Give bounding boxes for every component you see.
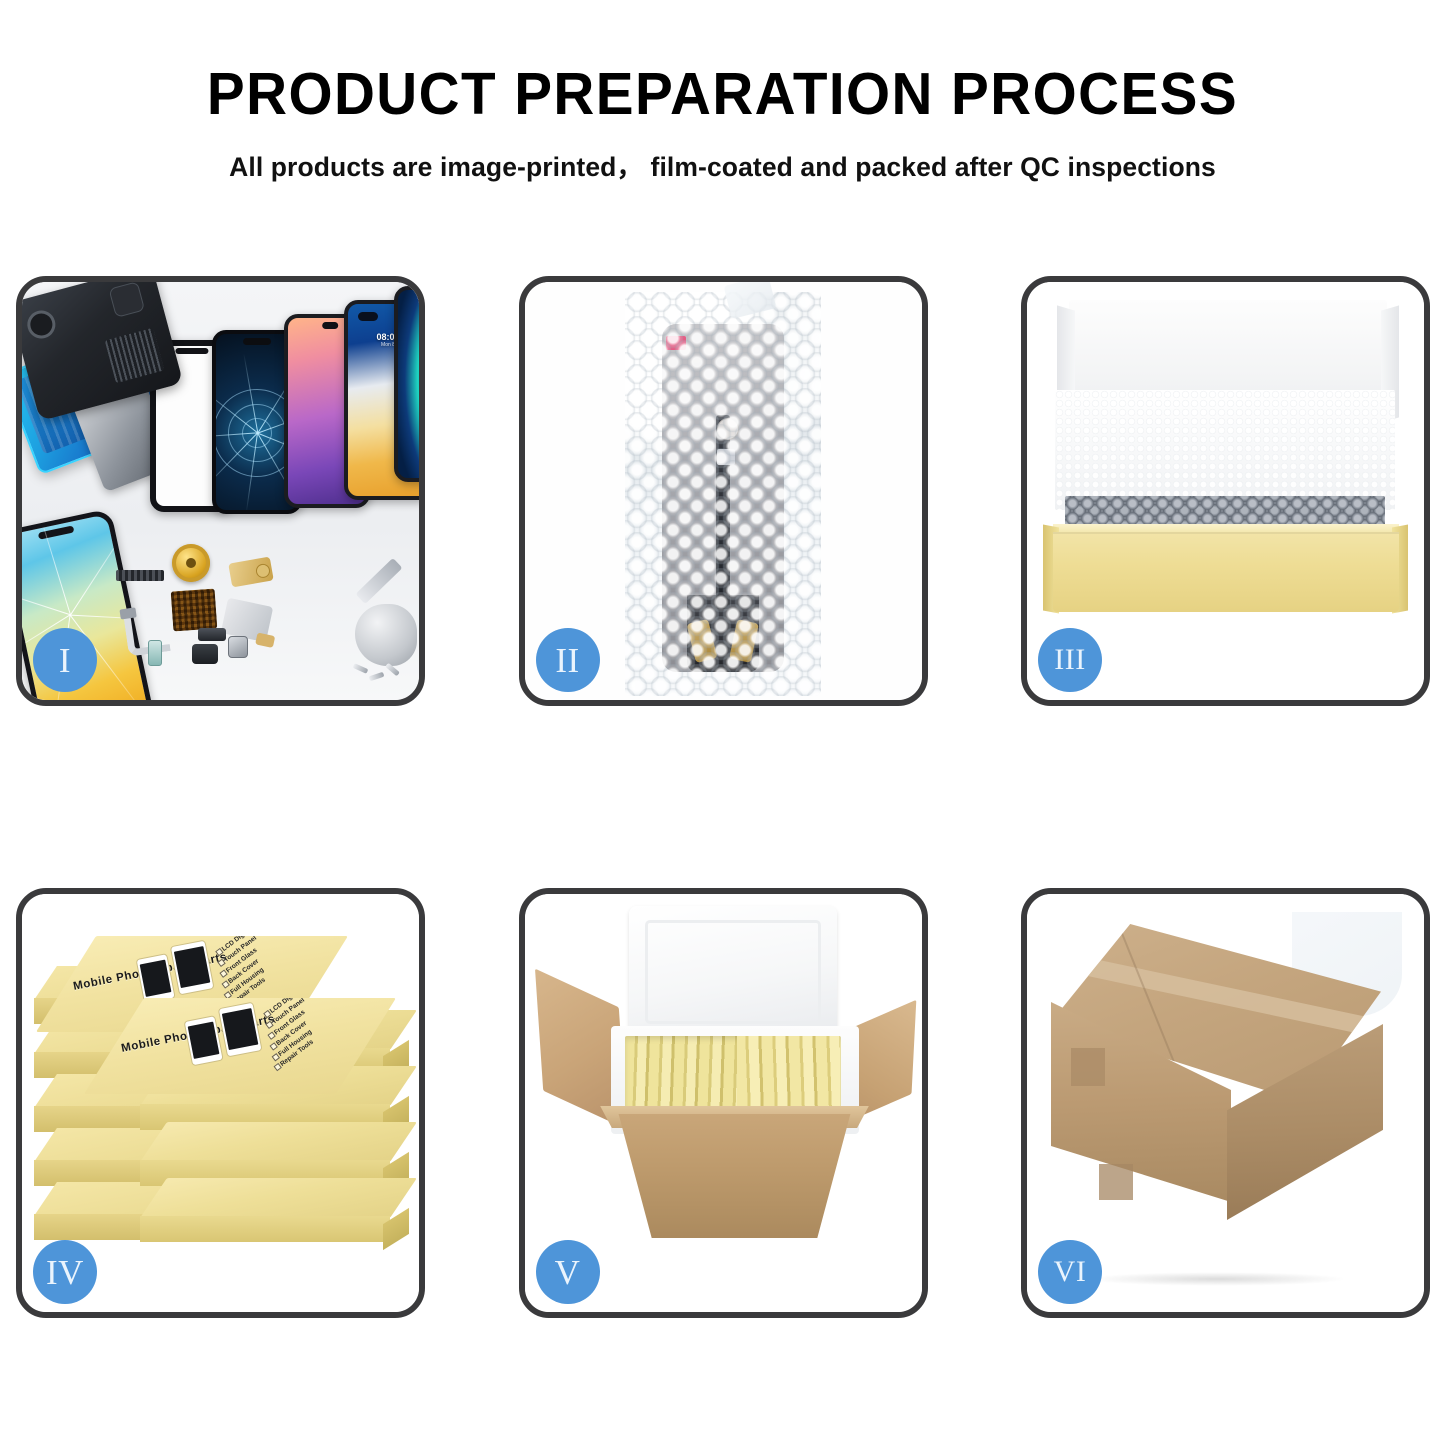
repair-tool-tweezers-icon	[355, 558, 402, 604]
yellow-box-body	[1053, 532, 1399, 612]
step-numeral: VI	[1054, 1257, 1087, 1287]
step-numeral: V	[555, 1255, 581, 1290]
step-panel-4-box-stack: Mobile Phone Spare Parts LCD Digitizer T…	[16, 888, 425, 1318]
gold-flex-cable	[228, 557, 274, 588]
wireless-charging-coil	[172, 544, 210, 582]
step-grid: 08:08 Mon 8	[16, 276, 1430, 1318]
step-numeral: II	[555, 643, 579, 678]
step-badge-5: V	[536, 1240, 600, 1304]
step-badge-2: II	[536, 628, 600, 692]
box-screen-artwork	[136, 939, 225, 1007]
list-item	[140, 1122, 390, 1186]
step-panel-1-product-range: 08:08 Mon 8	[16, 276, 425, 706]
header: PRODUCT PREPARATION PROCESS All products…	[0, 0, 1445, 184]
bubble-texture-overlay	[625, 292, 821, 696]
step-badge-3: III	[1038, 628, 1102, 692]
speaker-module	[198, 628, 226, 641]
step-badge-4: IV	[33, 1240, 97, 1304]
chip-array-part	[171, 589, 218, 632]
carton-shadow	[1087, 1272, 1347, 1286]
earpiece-mesh-part	[116, 570, 164, 581]
list-item	[140, 1178, 390, 1242]
step-numeral: III	[1054, 645, 1085, 675]
flex-cable-left	[123, 609, 170, 656]
punch-hole-camera-icon	[358, 312, 378, 321]
step-panel-2-bubble-wrap: II	[519, 276, 928, 706]
product-preparation-infographic: PRODUCT PREPARATION PROCESS All products…	[0, 0, 1445, 1445]
gold-boxes-rows	[625, 1036, 841, 1114]
screws-group	[353, 664, 407, 686]
button-module	[192, 644, 218, 664]
step-panel-5-carton-loading: V	[519, 888, 928, 1318]
sim-tray-part	[148, 640, 162, 666]
step-panel-6-sealed-carton: VI	[1021, 888, 1430, 1318]
page-title: PRODUCT PREPARATION PROCESS	[29, 64, 1416, 126]
technician-glove	[355, 604, 417, 666]
step-numeral: IV	[46, 1255, 84, 1290]
flex-cable-right	[221, 598, 273, 643]
step-panel-3-inner-box: III	[1021, 276, 1430, 706]
step-numeral: I	[59, 643, 71, 678]
page-subtitle: All products are image-printed， film-coa…	[0, 145, 1445, 184]
camera-module-icon	[109, 281, 146, 318]
box-stack: Mobile Phone Spare Parts LCD Digitizer T…	[22, 908, 419, 1288]
white-foam-sheet	[1055, 390, 1395, 510]
foam-lid	[629, 906, 837, 1038]
notch	[322, 322, 338, 329]
bubble-wrap-bag	[625, 292, 821, 696]
box-screen-artwork	[184, 1001, 273, 1069]
camera-lens-part	[228, 636, 248, 658]
carton-body	[597, 1114, 873, 1238]
teal-wave-display-phone	[394, 286, 425, 482]
carton-seam-tape-upper	[1071, 1048, 1105, 1086]
step-badge-6: VI	[1038, 1240, 1102, 1304]
carton-seam-tape-lower	[1099, 1164, 1133, 1200]
notch	[175, 348, 208, 354]
step-badge-1: I	[33, 628, 97, 692]
